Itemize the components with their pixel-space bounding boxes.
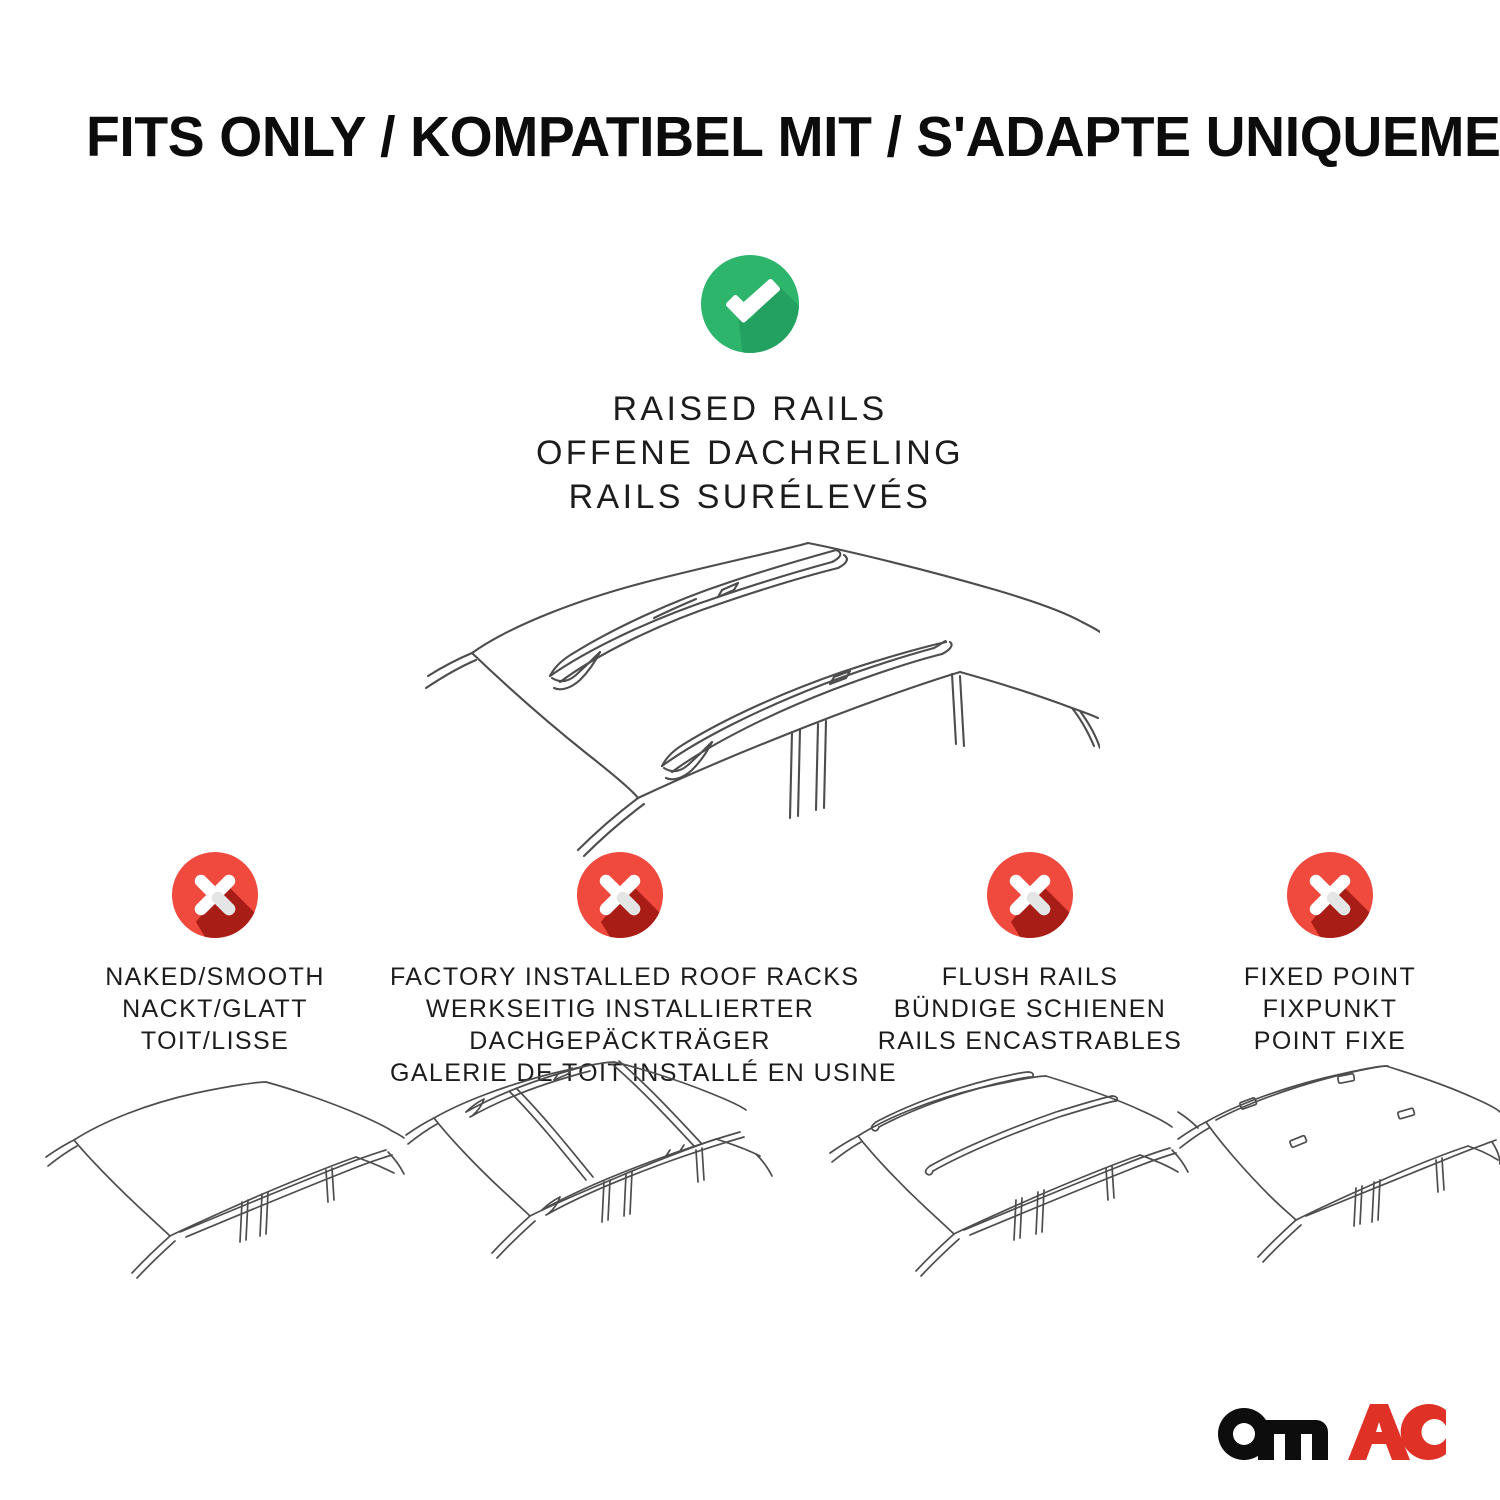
- incompatible-labels: FIXED POINT FIXPUNKT POINT FIXE: [1205, 961, 1455, 1057]
- incompatible-labels: NAKED/SMOOTH NACKT/GLATT TOIT/LISSE: [35, 961, 395, 1057]
- logo-letter-m: [1258, 1420, 1328, 1460]
- incompatible-section: NAKED/SMOOTH NACKT/GLATT TOIT/LISSE: [0, 848, 1500, 1068]
- car-roof-raised-rails-illustration: [400, 498, 1100, 858]
- compatible-label-de: OFFENE DACHRELING: [0, 431, 1500, 475]
- roof-type-illustrations: [0, 1060, 1500, 1290]
- incompatible-item-naked-smooth: NAKED/SMOOTH NACKT/GLATT TOIT/LISSE: [35, 848, 395, 1057]
- header: FITS ONLY / KOMPATIBEL MIT / S'ADAPTE UN…: [0, 0, 1500, 230]
- incompatible-label-en: NAKED/SMOOTH: [35, 961, 395, 993]
- x-circle-icon: [168, 848, 262, 942]
- incompatible-label-de: FIXPUNKT: [1205, 993, 1455, 1025]
- incompatible-label-de: BÜNDIGE SCHIENEN: [855, 993, 1205, 1025]
- page-title: FITS ONLY / KOMPATIBEL MIT / S'ADAPTE UN…: [86, 104, 1500, 170]
- incompatible-item-factory-roof-racks: FACTORY INSTALLED ROOF RACKS WERKSEITIG …: [390, 848, 850, 1089]
- incompatible-label-de-2: DACHGEPÄCKTRÄGER: [390, 1025, 850, 1057]
- incompatible-label-en: FLUSH RAILS: [855, 961, 1205, 993]
- x-circle-icon: [983, 848, 1077, 942]
- x-circle-icon: [573, 848, 667, 942]
- omac-logo: OMAC: [1208, 1400, 1448, 1462]
- incompatible-label-fr: POINT FIXE: [1205, 1025, 1455, 1057]
- incompatible-label-en: FACTORY INSTALLED ROOF RACKS: [390, 961, 850, 993]
- car-roof-naked-smooth-illustration: [30, 1060, 410, 1280]
- incompatible-labels: FLUSH RAILS BÜNDIGE SCHIENEN RAILS ENCAS…: [855, 961, 1205, 1057]
- incompatible-item-flush-rails: FLUSH RAILS BÜNDIGE SCHIENEN RAILS ENCAS…: [855, 848, 1205, 1057]
- incompatible-item-fixed-point: FIXED POINT FIXPUNKT POINT FIXE: [1205, 848, 1455, 1057]
- compatible-section: RAISED RAILS OFFENE DACHRELING RAILS SUR…: [0, 250, 1500, 520]
- incompatible-label-fr: TOIT/LISSE: [35, 1025, 395, 1057]
- incompatible-label-de-1: WERKSEITIG INSTALLIERTER: [390, 993, 850, 1025]
- car-roof-flush-rails-illustration: [820, 1060, 1200, 1280]
- logo-text: OMAC: [1208, 1462, 1209, 1463]
- car-roof-factory-roof-racks-illustration: [400, 1060, 800, 1280]
- x-circle-icon: [1283, 848, 1377, 942]
- incompatible-label-en: FIXED POINT: [1205, 961, 1455, 993]
- logo-letter-c: [1401, 1404, 1446, 1460]
- incompatible-label-de: NACKT/GLATT: [35, 993, 395, 1025]
- car-roof-fixed-point-illustration: [1160, 1060, 1500, 1280]
- incompatible-label-fr: RAILS ENCASTRABLES: [855, 1025, 1205, 1057]
- compatible-label-en: RAISED RAILS: [0, 387, 1500, 431]
- check-circle-icon: [696, 250, 804, 358]
